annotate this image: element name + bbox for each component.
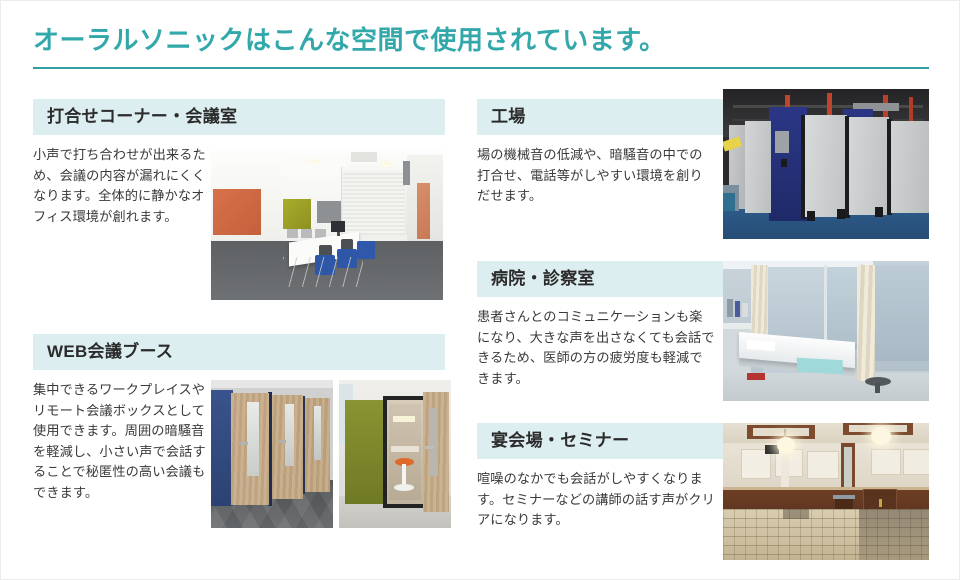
photo-group-meeting-corner (211, 145, 443, 300)
section-header-hospital: 病院・診察室 (477, 261, 723, 297)
privacy-curtain (751, 265, 767, 339)
window-mullion (824, 265, 827, 351)
section-header-meeting-corner: 打合せコーナー・会議室 (33, 99, 445, 135)
column-glass (844, 447, 852, 487)
section-banquet: 宴会場・セミナー 喧噪のなかでも会話がしやすくなります。セミナーなどの講師の話す… (477, 423, 929, 560)
section-text-meeting-corner: 小声で打ち合わせが出来るため、会議の内容が漏れにくくなります。全体的に静かなオフ… (33, 145, 209, 300)
section-web-booth: WEB会議ブース 集中できるワークプレイスやリモート会議ボックスとして使用できま… (33, 334, 445, 528)
acoustic-wall-panel (903, 449, 929, 475)
sound-partition-panel (891, 121, 929, 213)
monitor-stand (337, 232, 340, 236)
stool-stem (402, 464, 406, 486)
ceiling-coffer-inner (753, 428, 809, 436)
section-header-web-booth: WEB会議ブース (33, 334, 445, 370)
door-handle (879, 499, 882, 507)
photo-group-web-booth (211, 380, 451, 528)
section-header-factory: 工場 (477, 99, 723, 135)
door-handle (239, 442, 248, 445)
banquet-hall-photo (723, 423, 929, 560)
door-glass-panel (429, 408, 438, 476)
machine-button (781, 159, 787, 167)
air-vent (351, 152, 377, 162)
bed-pillow-sheet (747, 340, 775, 351)
right-column: 工場 場の機械音の低減や、暗騒音の中での打合せ、電話等がしやすい環境を創りだせま… (477, 99, 929, 560)
booth-door-window (247, 402, 259, 476)
section-body-web-booth: 集中できるワークプレイスやリモート会議ボックスとして使用できます。周囲の暗騒音を… (33, 380, 445, 528)
booth-exterior-green (345, 400, 387, 504)
ceiling-pipe-red (909, 97, 913, 123)
wall-recess (403, 161, 410, 185)
web-booth-open-photo (339, 380, 451, 528)
trolley-top (723, 323, 751, 329)
booth-door-window (314, 406, 321, 460)
section-text-web-booth: 集中できるワークプレイスやリモート会議ボックスとして使用できます。周囲の暗騒音を… (33, 380, 209, 528)
page-title: オーラルソニックはこんな空間で使用されています。 (33, 20, 666, 57)
chair-back (301, 229, 312, 238)
title-divider (33, 67, 929, 69)
machine-control-panel (775, 131, 789, 153)
chandelier-icon (777, 437, 795, 453)
section-body-hospital: 患者さんとのコミュニケーションも楽になり、大きな声を出さなくても会話できるため、… (477, 307, 723, 389)
seat-shadow-right (859, 509, 929, 560)
section-header-banquet: 宴会場・セミナー (477, 423, 723, 459)
stool-base (394, 484, 414, 491)
acoustic-wall-panel (775, 449, 803, 477)
acoustic-wall-panel (807, 451, 839, 479)
booth-door-window (285, 404, 294, 466)
partition-foot (807, 211, 815, 221)
booth-desk (391, 446, 419, 452)
section-text-factory: 場の機械音の低減や、暗騒音の中での打合せ、電話等がしやすい環境を創りだせます。 (477, 145, 715, 207)
desktop-monitor (331, 221, 345, 232)
supply-bottle (727, 299, 733, 317)
sound-partition-panel (849, 117, 889, 215)
chandelier-icon (871, 427, 891, 445)
section-text-hospital: 患者さんとのコミュニケーションも楽になり、大きな声を出さなくても会話できるため、… (477, 307, 715, 389)
section-text-banquet: 喧噪のなかでも会話がしやすくなります。セミナーなどの講師の話す声がクリアになりま… (477, 469, 715, 531)
acoustic-wall-panel (871, 449, 901, 475)
wainscot-trim (723, 487, 929, 490)
chair-back (287, 229, 298, 238)
supply-bottle (742, 303, 748, 317)
section-factory: 工場 場の機械音の低減や、暗騒音の中での打合せ、電話等がしやすい環境を創りだせま… (477, 99, 929, 239)
page-root: オーラルソニックはこんな空間で使用されています。 打合せコーナー・会議室 小声で… (0, 0, 960, 580)
stool-leg (875, 383, 880, 393)
factory-container (723, 193, 735, 211)
supply-bottle (735, 301, 740, 317)
hospital-photo (723, 261, 929, 401)
seat-shadow (783, 509, 809, 519)
lectern-top (833, 495, 855, 499)
sound-partition-panel (745, 121, 771, 213)
section-body-factory: 場の機械音の低減や、暗騒音の中での打合せ、電話等がしやすい環境を創りだせます。 (477, 145, 723, 207)
blue-towel (797, 358, 844, 374)
factory-photo (723, 89, 929, 239)
red-weight-scale (747, 373, 765, 380)
acoustic-panel-green (283, 199, 311, 229)
door-handle (425, 446, 434, 449)
section-row-banquet: 宴会場・セミナー 喧噪のなかでも会話がしやすくなります。セミナーなどの講師の話す… (477, 423, 929, 560)
door-handle (279, 440, 286, 443)
section-body-meeting-corner: 小声で打ち合わせが出来るため、会議の内容が漏れにくくなります。全体的に静かなオフ… (33, 145, 445, 300)
acoustic-panel-orange (213, 189, 261, 235)
booth-side-panel-blue (211, 390, 233, 506)
web-booth-row-photo (211, 380, 333, 528)
partition-foot (875, 207, 883, 217)
privacy-curtain (857, 265, 875, 381)
section-hospital: 病院・診察室 患者さんとのコミュニケーションも楽になり、大きな声を出さなくても会… (477, 261, 929, 401)
chair-legs (283, 257, 363, 287)
section-row-hospital: 病院・診察室 患者さんとのコミュニケーションも楽になり、大きな声を出さなくても会… (477, 261, 929, 401)
wall-display (317, 201, 341, 223)
window-blind (767, 267, 827, 345)
under-light (393, 416, 415, 422)
sound-partition-panel (805, 115, 847, 217)
meeting-room-photo (211, 145, 443, 300)
section-row-factory: 工場 場の機械音の低減や、暗騒音の中での打合せ、電話等がしやすい環境を創りだせま… (477, 99, 929, 239)
partition-foot (837, 209, 845, 219)
acoustic-panel-orange-right (417, 183, 430, 239)
section-body-banquet: 喧噪のなかでも会話がしやすくなります。セミナーなどの講師の話す声がクリアになりま… (477, 469, 723, 531)
left-column: 打合せコーナー・会議室 小声で打ち合わせが出来るため、会議の内容が漏れにくくなり… (33, 99, 445, 528)
window-blind (343, 171, 405, 233)
section-meeting-corner: 打合せコーナー・会議室 小声で打ち合わせが出来るため、会議の内容が漏れにくくなり… (33, 99, 445, 300)
